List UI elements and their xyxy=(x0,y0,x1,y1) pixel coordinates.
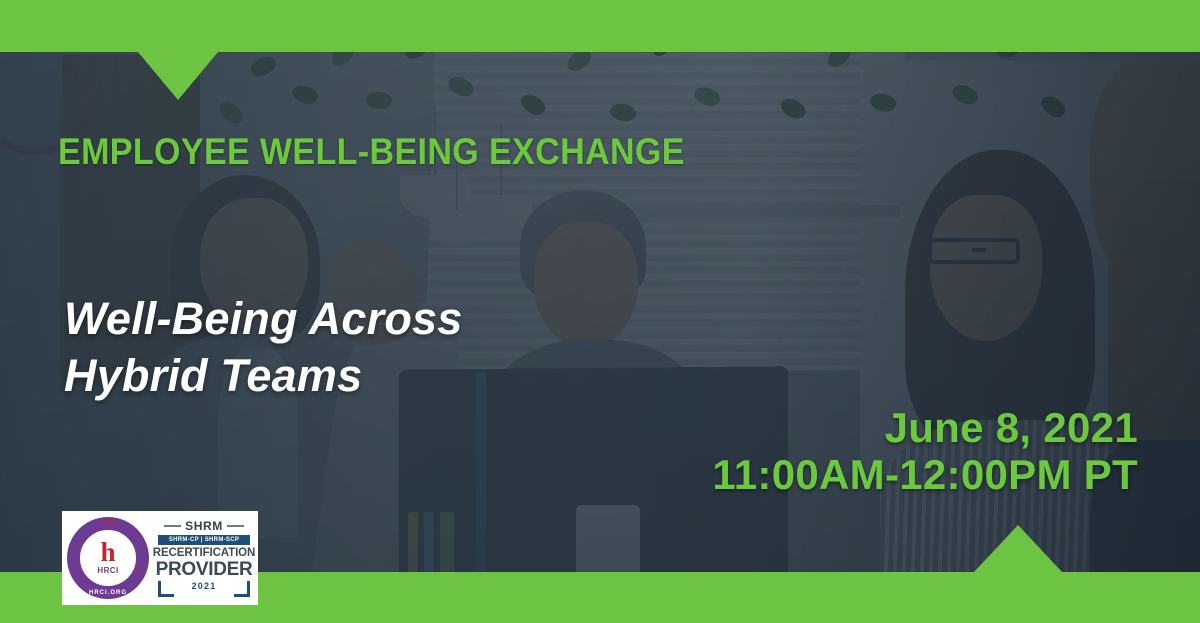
event-time: 11:00AM-12:00PM PT xyxy=(712,451,1138,498)
certification-badges: · 2021 · APPROVED PROVIDER h HRCI HRCI.O… xyxy=(62,511,258,605)
webinar-promo-banner: EMPLOYEE WELL-BEING EXCHANGE Well-Being … xyxy=(0,0,1200,623)
event-datetime: June 8, 2021 11:00AM-12:00PM PT xyxy=(712,404,1138,498)
shrm-year: 2021 xyxy=(192,581,217,591)
hrci-arc-bottom: HRCI.ORG xyxy=(67,590,149,596)
hrci-arc-top: · 2021 · xyxy=(67,520,149,526)
page-title: Well-Being Across Hybrid Teams xyxy=(64,290,463,404)
page-title-line-1: Well-Being Across xyxy=(64,290,463,347)
series-eyebrow-title: EMPLOYEE WELL-BEING EXCHANGE xyxy=(58,131,685,173)
shrm-line-1: RECERTIFICATION xyxy=(153,547,255,559)
page-title-line-2: Hybrid Teams xyxy=(64,347,463,404)
shrm-rule-left xyxy=(164,525,181,527)
shrm-recertification-provider-badge-icon: SHRM SHRM-CP | SHRM-SCP RECERTIFICATION … xyxy=(155,519,253,597)
hrci-approved-provider-badge-icon: · 2021 · APPROVED PROVIDER h HRCI HRCI.O… xyxy=(67,517,149,599)
event-date: June 8, 2021 xyxy=(712,404,1138,451)
shrm-org-name: SHRM xyxy=(185,519,223,533)
hrci-logo-letter: h xyxy=(100,541,115,564)
shrm-line-2: PROVIDER xyxy=(156,560,253,579)
top-green-band xyxy=(0,0,1200,52)
shrm-credentials: SHRM-CP | SHRM-SCP xyxy=(158,535,250,545)
shrm-rule-right xyxy=(227,525,244,527)
hrci-org-name: HRCI xyxy=(97,566,118,575)
